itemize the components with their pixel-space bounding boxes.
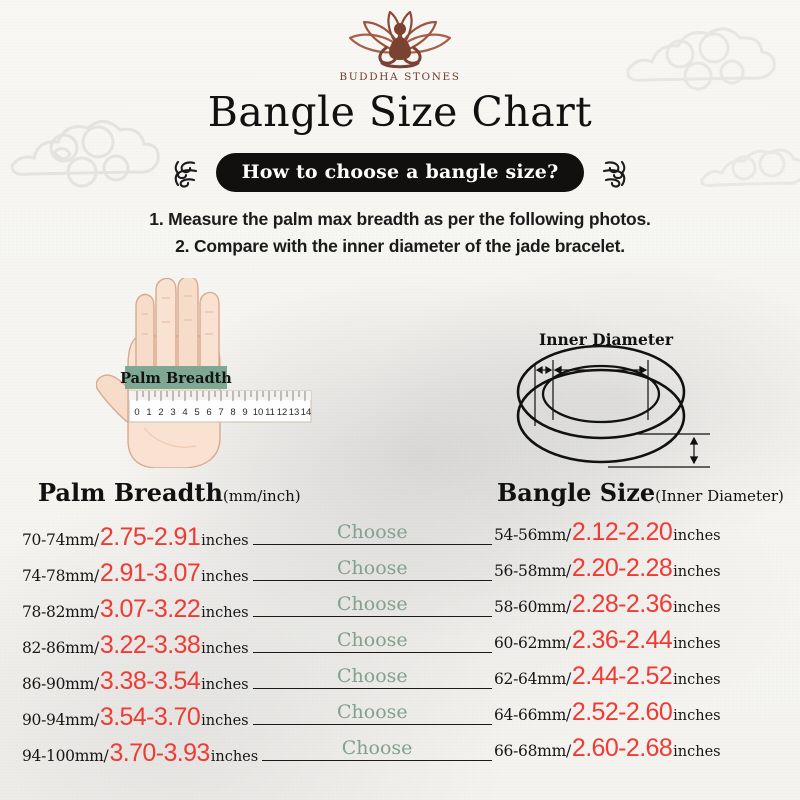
mm-range-value: 86-90mm/ — [22, 675, 99, 693]
bangle-size-heading-subtitle: (Inner Diameter) — [655, 487, 784, 505]
how-to-choose-pill: How to choose a bangle size? — [216, 153, 585, 192]
inch-range-value: 3.22-3.38 — [100, 631, 200, 660]
unit-label: inches — [201, 677, 248, 693]
unit-label: inches — [673, 636, 720, 652]
unit-label: inches — [201, 713, 248, 729]
ruler-tick-labels: 012 345 678 91011 121314 — [134, 407, 311, 418]
bangle-size-heading-title: Bangle Size — [497, 478, 655, 507]
mm-range-value: 82-86mm/ — [22, 639, 99, 657]
mm-range-value: 64-66mm/ — [494, 706, 571, 724]
unit-label: inches — [201, 569, 248, 585]
inch-range-value: 2.75-2.91 — [100, 523, 200, 552]
palm-breadth-heading-title: Palm Breadth — [38, 478, 223, 507]
svg-text:7: 7 — [218, 407, 223, 418]
svg-text:8: 8 — [230, 407, 235, 418]
choose-label[interactable]: Choose — [342, 737, 413, 759]
choose-field[interactable]: Choose — [253, 518, 492, 545]
unit-label: inches — [211, 749, 258, 765]
unit-label: inches — [673, 672, 720, 688]
choose-label[interactable]: Choose — [337, 593, 408, 615]
table-row[interactable]: 78-82mm/3.07-3.22inchesChoose — [22, 590, 492, 626]
table-row[interactable]: 86-90mm/3.38-3.54inchesChoose — [22, 662, 492, 698]
mm-range-value: 90-94mm/ — [22, 711, 99, 729]
choose-field[interactable]: Choose — [253, 662, 492, 689]
table-row: 62-64mm/2.44-2.52inches — [494, 662, 794, 698]
svg-text:4: 4 — [182, 407, 187, 418]
table-row: 58-60mm/2.28-2.36inches — [494, 590, 794, 626]
page-title: Bangle Size Chart — [0, 88, 800, 136]
palm-breadth-section-heading: Palm Breadth(mm/inch) — [38, 478, 301, 507]
brand-wordmark: BUDDHA STONES — [318, 71, 482, 83]
instruction-step-2: 2. Compare with the inner diameter of th… — [0, 233, 800, 260]
mm-range-value: 70-74mm/ — [22, 531, 99, 549]
table-row[interactable]: 82-86mm/3.22-3.38inchesChoose — [22, 626, 492, 662]
svg-text:5: 5 — [194, 407, 199, 418]
hand-with-ruler-illustration: Palm Breadth 012 345 678 91011 121314 — [96, 278, 346, 468]
svg-text:13: 13 — [289, 407, 300, 418]
bangle-size-table: 54-56mm/2.12-2.20inches56-58mm/2.20-2.28… — [494, 518, 794, 770]
choose-field[interactable]: Choose — [253, 590, 492, 617]
table-row[interactable]: 70-74mm/2.75-2.91inchesChoose — [22, 518, 492, 554]
unit-label: inches — [673, 744, 720, 760]
unit-label: inches — [673, 708, 720, 724]
inch-range-value: 3.38-3.54 — [100, 667, 200, 696]
choose-field[interactable]: Choose — [262, 734, 492, 761]
choose-field[interactable]: Choose — [253, 626, 492, 653]
bangle-inner-diameter-illustration: Inner Diameter — [498, 328, 748, 476]
table-row: 60-62mm/2.36-2.44inches — [494, 626, 794, 662]
table-row: 66-68mm/2.60-2.68inches — [494, 734, 794, 770]
instructions-list: 1. Measure the palm max breadth as per t… — [0, 206, 800, 260]
mm-range-value: 60-62mm/ — [494, 634, 571, 652]
choose-label[interactable]: Choose — [337, 629, 408, 651]
subtitle-row: How to choose a bangle size? — [0, 153, 800, 192]
mm-range-value: 94-100mm/ — [22, 747, 108, 765]
brand-logo: BUDDHA STONES — [318, 8, 482, 83]
svg-text:9: 9 — [242, 407, 247, 418]
inch-range-value: 2.36-2.44 — [572, 626, 672, 655]
inch-range-value: 3.07-3.22 — [100, 595, 200, 624]
mm-range-value: 56-58mm/ — [494, 562, 571, 580]
unit-label: inches — [673, 564, 720, 580]
table-row: 56-58mm/2.20-2.28inches — [494, 554, 794, 590]
unit-label: inches — [201, 641, 248, 657]
svg-text:2: 2 — [158, 407, 163, 418]
inch-range-value: 2.44-2.52 — [572, 662, 672, 691]
table-row: 64-66mm/2.52-2.60inches — [494, 698, 794, 734]
choose-label[interactable]: Choose — [337, 665, 408, 687]
unit-label: inches — [673, 528, 720, 544]
svg-text:6: 6 — [206, 407, 211, 418]
table-row[interactable]: 90-94mm/3.54-3.70inchesChoose — [22, 698, 492, 734]
choose-field[interactable]: Choose — [253, 698, 492, 725]
inch-range-value: 3.54-3.70 — [100, 703, 200, 732]
table-row[interactable]: 94-100mm/3.70-3.93inchesChoose — [22, 734, 492, 770]
svg-text:14: 14 — [301, 407, 312, 418]
scroll-flourish-ornament-icon — [169, 156, 203, 190]
unit-label: inches — [673, 600, 720, 616]
unit-label: inches — [201, 533, 248, 549]
mm-range-value: 62-64mm/ — [494, 670, 571, 688]
inch-range-value: 2.12-2.20 — [572, 518, 672, 547]
inch-range-value: 2.28-2.36 — [572, 590, 672, 619]
instruction-step-1: 1. Measure the palm max breadth as per t… — [0, 206, 800, 233]
mm-range-value: 54-56mm/ — [494, 526, 571, 544]
bangle-size-section-heading: Bangle Size(Inner Diameter) — [497, 478, 784, 507]
table-row[interactable]: 74-78mm/2.91-3.07inchesChoose — [22, 554, 492, 590]
palm-breadth-tag-label: Palm Breadth — [120, 370, 232, 387]
mm-range-value: 58-60mm/ — [494, 598, 571, 616]
unit-label: inches — [201, 605, 248, 621]
inch-range-value: 2.60-2.68 — [572, 734, 672, 763]
svg-text:12: 12 — [277, 407, 288, 418]
inch-range-value: 2.20-2.28 — [572, 554, 672, 583]
svg-text:11: 11 — [265, 407, 275, 418]
mm-range-value: 74-78mm/ — [22, 567, 99, 585]
svg-text:3: 3 — [170, 407, 175, 418]
inch-range-value: 2.91-3.07 — [100, 559, 200, 588]
scroll-flourish-ornament-icon — [597, 156, 631, 190]
choose-label[interactable]: Choose — [337, 557, 408, 579]
mm-range-value: 78-82mm/ — [22, 603, 99, 621]
palm-breadth-table: 70-74mm/2.75-2.91inchesChoose74-78mm/2.9… — [22, 518, 492, 770]
lotus-meditation-icon — [338, 8, 462, 70]
table-row: 54-56mm/2.12-2.20inches — [494, 518, 794, 554]
mm-range-value: 66-68mm/ — [494, 742, 571, 760]
choose-label[interactable]: Choose — [337, 701, 408, 723]
choose-field[interactable]: Choose — [253, 554, 492, 581]
bangle-size-chart-page: BUDDHA STONES Bangle Size Chart How to c… — [0, 0, 800, 800]
svg-text:0: 0 — [134, 407, 139, 418]
svg-text:10: 10 — [253, 407, 264, 418]
choose-label[interactable]: Choose — [337, 521, 408, 543]
svg-text:1: 1 — [146, 407, 151, 418]
palm-breadth-heading-subtitle: (mm/inch) — [223, 487, 301, 505]
inch-range-value: 3.70-3.93 — [109, 739, 209, 768]
inch-range-value: 2.52-2.60 — [572, 698, 672, 727]
